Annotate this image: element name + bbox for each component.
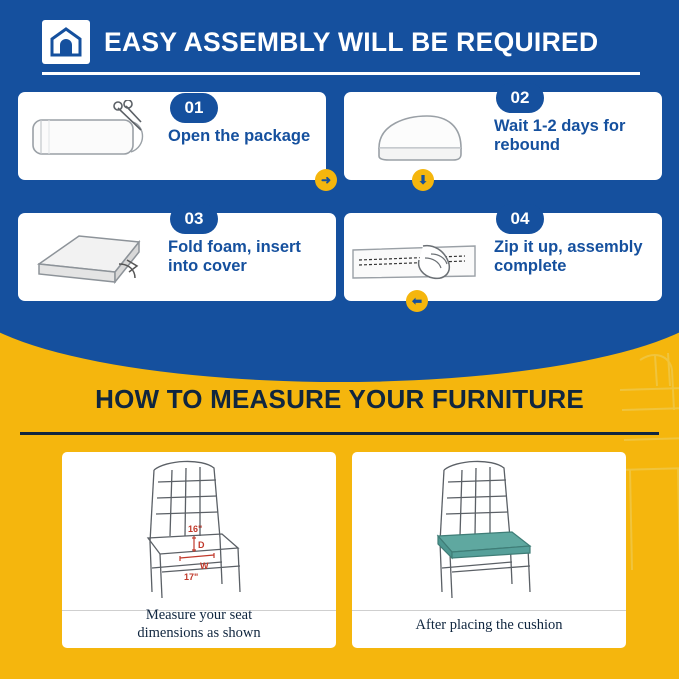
photo-caption-1: Measure your seat dimensions as shown (62, 606, 336, 642)
page-title: EASY ASSEMBLY WILL BE REQUIRED (104, 27, 598, 58)
step-card-04: 04 Zip it up, assembly complete ⬅ (344, 213, 662, 301)
brand-logo (42, 20, 90, 64)
step-card-03: 03 Fold foam, insert into cover (18, 213, 336, 301)
photo-caption-2-line1: After placing the cushion (352, 616, 626, 634)
photo-card-cushion: After placing the cushion (352, 452, 626, 648)
hand-zipping-icon (344, 218, 494, 296)
step-02-text: 02 Wait 1-2 days for rebound (494, 117, 662, 155)
arrow-down-icon-02: ⬇ (412, 169, 434, 191)
measure-title: HOW TO MEASURE YOUR FURNITURE (0, 384, 679, 415)
photo-caption-divider-2 (352, 610, 626, 611)
step-number-badge-02: 02 (496, 83, 544, 113)
photo-caption-1-line2: dimensions as shown (62, 624, 336, 642)
step-card-01: 01 Open the package ➜ (18, 92, 326, 180)
measure-divider (20, 432, 659, 435)
header-divider (42, 72, 640, 75)
step-card-02: 02 Wait 1-2 days for rebound ⬇ (344, 92, 662, 180)
header: EASY ASSEMBLY WILL BE REQUIRED (42, 14, 642, 70)
annotation-width: 17" (184, 572, 198, 582)
house-logo-icon (49, 26, 83, 58)
arrow-right-icon-01: ➜ (315, 169, 337, 191)
step-number-badge-03: 03 (170, 204, 218, 234)
step-label-04: Zip it up, assembly complete (494, 238, 654, 276)
step-number-badge-01: 01 (170, 93, 218, 123)
step-label-03: Fold foam, insert into cover (168, 238, 328, 276)
arrow-left-icon-04: ⬅ (406, 290, 428, 312)
chair-with-cushion-icon (352, 452, 626, 604)
annotation-d-label: D (198, 540, 205, 550)
step-03-text: 03 Fold foam, insert into cover (168, 238, 336, 276)
step-04-text: 04 Zip it up, assembly complete (494, 238, 662, 276)
step-label-01: Open the package (168, 127, 318, 146)
photo-card-measure: 16" D W 17" Measure your seat dimensions… (62, 452, 336, 648)
chair-with-measurements-icon: 16" D W 17" (62, 452, 336, 604)
photo-caption-1-line1: Measure your seat (62, 606, 336, 624)
cushion-rebound-icon (344, 97, 494, 175)
step-label-02: Wait 1-2 days for rebound (494, 117, 654, 155)
foam-into-cover-icon (18, 218, 168, 296)
step-01-text: 01 Open the package (168, 127, 326, 146)
annotation-depth: 16" (188, 524, 202, 534)
annotation-w-label: W (200, 561, 209, 571)
photo-caption-2: After placing the cushion (352, 616, 626, 634)
step-number-badge-04: 04 (496, 204, 544, 234)
package-with-scissors-icon (18, 97, 168, 175)
